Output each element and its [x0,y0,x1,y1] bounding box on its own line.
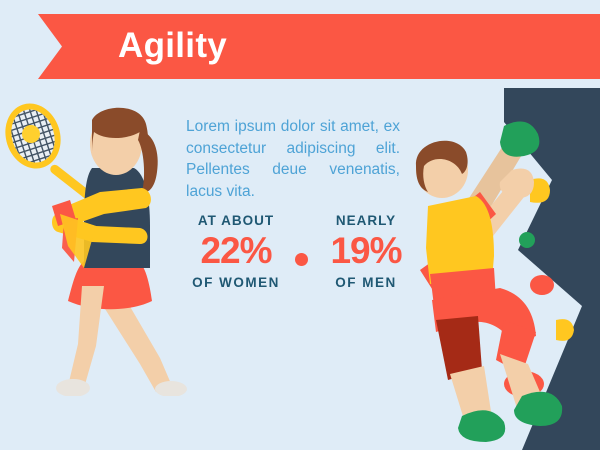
stat-men-value: 19% [316,230,416,272]
skirt [68,261,152,309]
stat-men-group: OF MEN [316,274,416,291]
shoe-green-bottom [458,410,505,442]
body-paragraph: Lorem ipsum dolor sit amet, ex consectet… [186,116,400,202]
statistics-group: AT ABOUT 22% OF WOMEN NEARLY 19% OF MEN [186,212,416,291]
stat-separator-dot-icon [295,253,308,266]
tennis-ball-icon [22,125,40,143]
rock-climber-illustration [400,88,600,450]
stat-women-value: 22% [186,230,286,272]
torso-top [84,168,150,268]
stat-men: NEARLY 19% OF MEN [316,212,416,291]
infographic-canvas: Agility [0,0,600,450]
stat-women-qualifier: AT ABOUT [186,212,286,229]
tennis-player-illustration [0,96,200,396]
hold-red-middle [530,275,554,295]
page-title: Agility [118,26,227,66]
stat-women-group: OF WOMEN [186,274,286,291]
hold-green-upper [519,232,535,248]
stat-women: AT ABOUT 22% OF WOMEN [186,212,286,291]
stat-men-qualifier: NEARLY [316,212,416,229]
tennis-racket-icon [0,96,93,201]
